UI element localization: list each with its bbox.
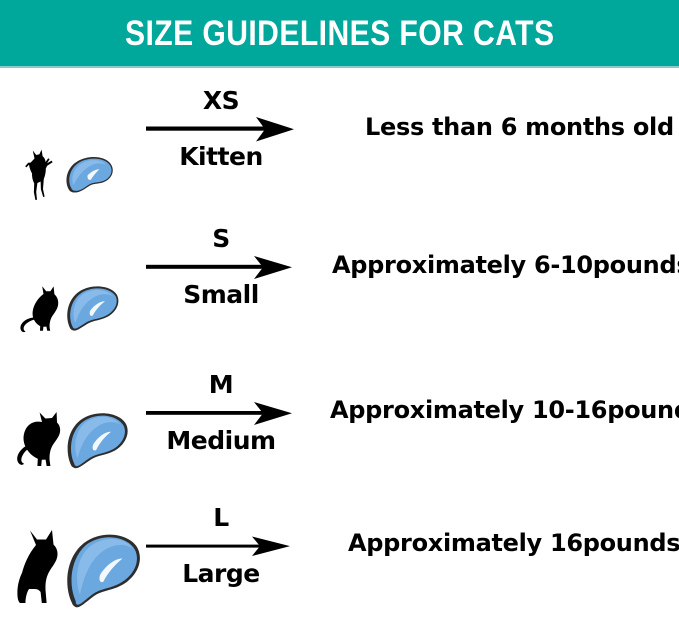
cat-cell xyxy=(8,72,68,202)
size-abbreviation: M xyxy=(146,372,296,399)
right-arrow-icon xyxy=(146,254,296,280)
arrow-wrap xyxy=(146,400,296,426)
size-name: Small xyxy=(146,282,296,307)
arrow-wrap xyxy=(146,254,296,280)
size-name: Medium xyxy=(146,428,296,453)
size-row-s: S Small Approximately 6-10pounds xyxy=(0,212,679,342)
size-abbreviation: XS xyxy=(146,88,296,115)
nail-cap-cell xyxy=(60,352,145,482)
arrow-block: L Large xyxy=(146,505,296,586)
nail-cap-xs-icon xyxy=(60,152,118,196)
cat-sitting-medium-silhouette-icon xyxy=(12,410,64,472)
size-description: Approximately 6-10pounds xyxy=(332,251,679,279)
size-name: Large xyxy=(146,561,296,586)
nail-cap-cell xyxy=(60,212,145,342)
cat-cell xyxy=(8,212,68,342)
nail-cap-l-icon xyxy=(60,533,144,611)
arrow-wrap xyxy=(146,533,296,559)
size-description: Approximately 16pounds xyxy=(348,529,679,557)
right-arrow-icon xyxy=(146,533,296,559)
size-guidelines-chart: SIZE GUIDELINES FOR CATS XS xyxy=(0,0,679,599)
header-banner: SIZE GUIDELINES FOR CATS xyxy=(0,0,679,66)
size-abbreviation: S xyxy=(146,226,296,253)
cat-cell xyxy=(8,352,68,482)
size-row-xs: XS Kitten Less than 6 months old xyxy=(0,72,679,202)
arrow-block: XS Kitten xyxy=(146,88,296,169)
size-row-l: L Large Approximately 16pounds xyxy=(0,487,679,617)
size-name: Kitten xyxy=(146,144,296,169)
cat-sitting-small-silhouette-icon xyxy=(14,284,62,334)
header-divider xyxy=(0,66,679,68)
nail-cap-s-icon xyxy=(60,282,124,334)
size-description: Less than 6 months old xyxy=(365,113,674,141)
right-arrow-icon xyxy=(146,400,296,426)
arrow-block: M Medium xyxy=(146,372,296,453)
nail-cap-m-icon xyxy=(60,410,132,472)
kitten-standing-silhouette-icon xyxy=(21,146,55,202)
nail-cap-cell xyxy=(60,487,145,617)
arrow-block: S Small xyxy=(146,226,296,307)
page-title: SIZE GUIDELINES FOR CATS xyxy=(125,16,555,51)
right-arrow-icon xyxy=(146,116,296,142)
nail-cap-cell xyxy=(60,72,145,202)
size-abbreviation: L xyxy=(146,505,296,532)
size-row-m: M Medium Approximately 10-16pounds xyxy=(0,352,679,482)
size-description: Approximately 10-16pounds xyxy=(330,396,679,424)
cat-cell xyxy=(8,487,68,617)
arrow-wrap xyxy=(146,116,296,142)
